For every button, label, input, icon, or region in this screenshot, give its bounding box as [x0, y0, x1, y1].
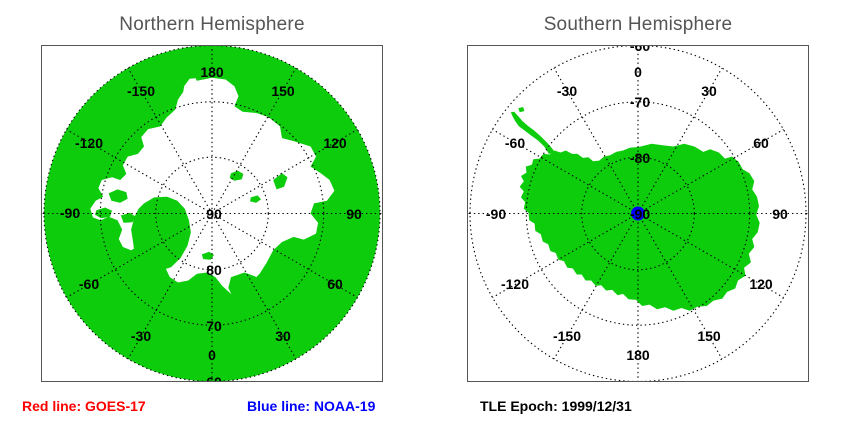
tle-epoch-label: TLE Epoch: 1999/12/31	[480, 398, 632, 414]
southern-hemisphere-map-svg	[468, 46, 808, 381]
legend-noaa19: Blue line: NOAA-19	[247, 398, 375, 414]
legend-goes17: Red line: GOES-17	[22, 398, 146, 414]
south-pole-marker	[631, 207, 645, 221]
southern-hemisphere-plot[interactable]: 0306090120150180-150-120-90-60-30-60-70-…	[467, 45, 809, 382]
northern-hemisphere-title: Northern Hemisphere	[41, 14, 383, 36]
southern-hemisphere-title: Southern Hemisphere	[467, 14, 809, 36]
northern-hemisphere-map-svg	[42, 46, 382, 381]
screenshot-canvas: Northern Hemisphere 90807060180-150-120-…	[0, 0, 850, 425]
northern-hemisphere-plot[interactable]: 90807060180-150-120-90-60-30030609012015…	[41, 45, 383, 382]
